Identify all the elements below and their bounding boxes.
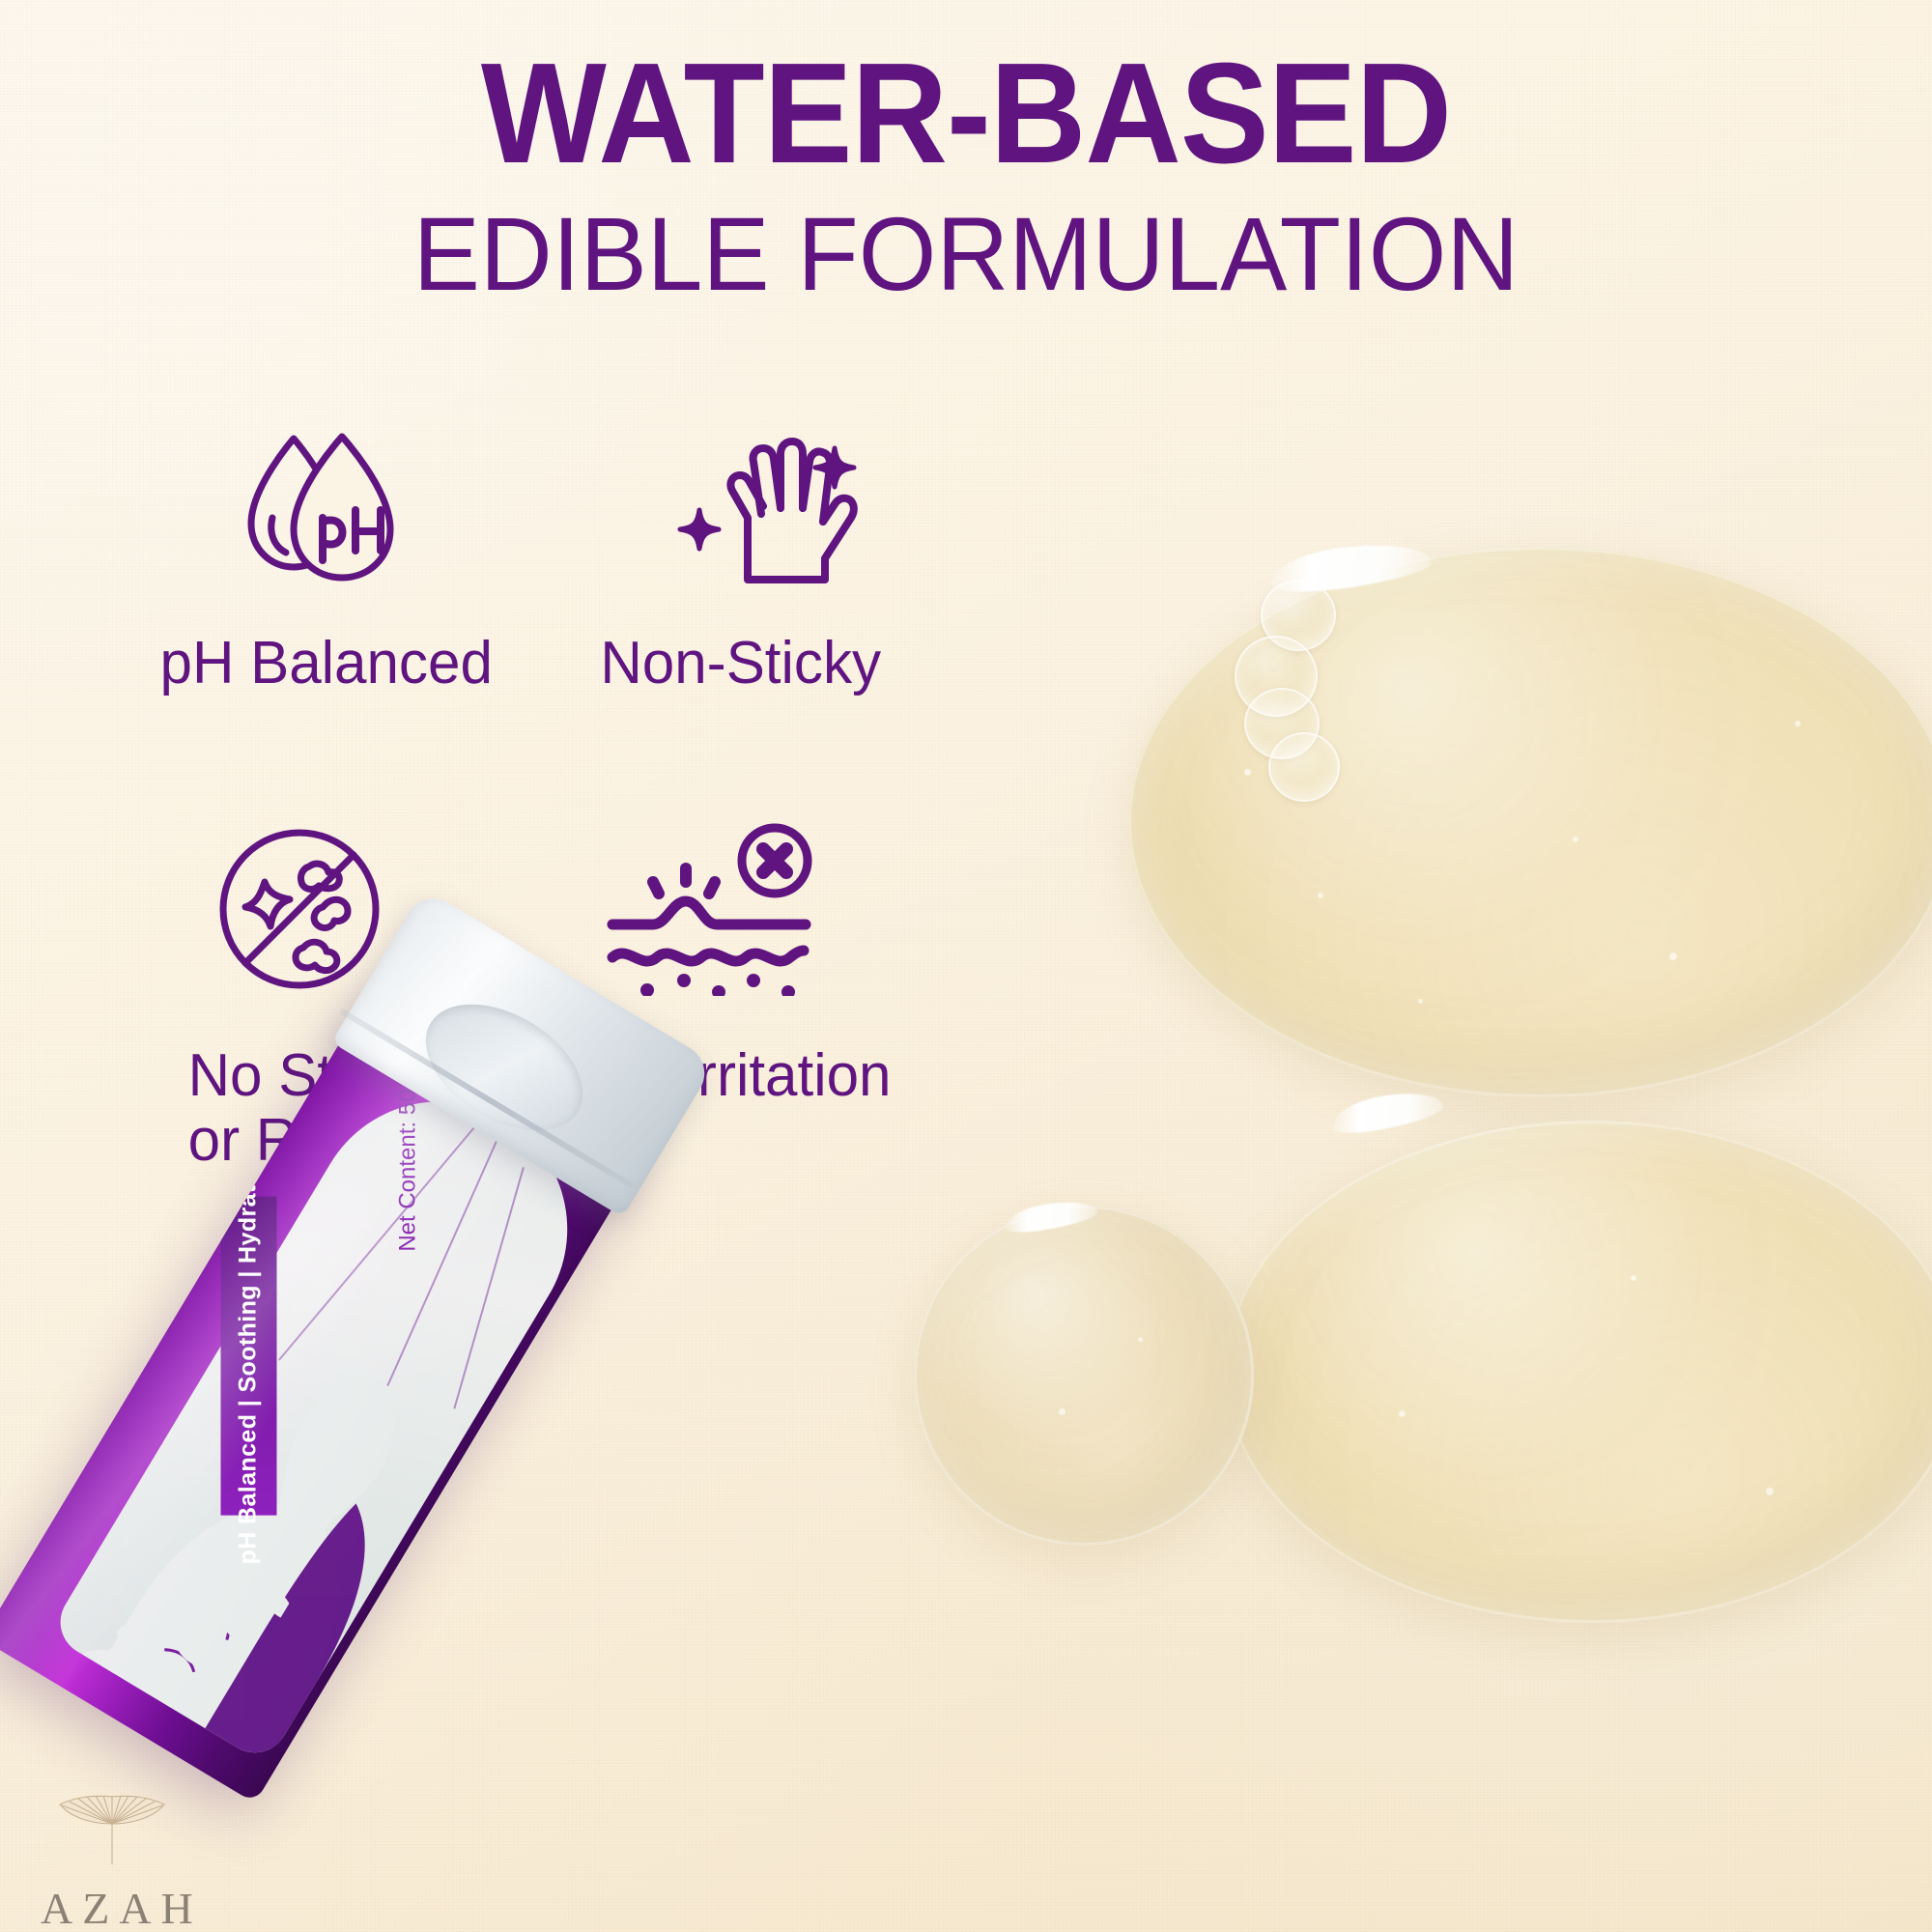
skin-no-irritation-icon — [580, 812, 1014, 996]
gel-speck — [1631, 1275, 1636, 1281]
transparent-bubble — [1268, 732, 1340, 802]
ph-droplet-icon — [145, 415, 580, 599]
ginkgo-leaf-icon — [35, 1789, 189, 1878]
headline-secondary: EDIBLE FORMULATION — [39, 199, 1893, 308]
gel-speck — [1573, 837, 1578, 842]
gel-speck — [1669, 952, 1677, 960]
gel-speck — [1138, 1337, 1143, 1342]
gel-speck — [1418, 999, 1423, 1004]
brand-logo: AZAH — [35, 1789, 189, 1932]
gel-droplet-large — [1128, 547, 1932, 1097]
brand-name: AZAH — [35, 1883, 189, 1932]
feature-label: pH Balanced — [145, 599, 567, 696]
sparkle-hand-icon — [580, 415, 1014, 599]
gel-speck — [1795, 721, 1801, 726]
gel-droplet-small — [914, 1206, 1254, 1546]
gel-speck — [1399, 1410, 1406, 1417]
gel-speck — [1766, 1488, 1774, 1495]
headline-primary: WATER-BASED — [68, 43, 1864, 185]
gel-speck — [1318, 893, 1323, 898]
gel-speck — [1244, 769, 1251, 776]
feature-label: Non-Sticky — [580, 599, 1002, 696]
headline-block: WATER-BASED EDIBLE FORMULATION — [0, 43, 1932, 308]
feature-ph-balanced: pH Balanced — [145, 415, 580, 696]
feature-non-sticky: Non-Sticky — [580, 415, 1014, 696]
gel-droplet-medium — [1225, 1121, 1932, 1623]
feature-row: pH Balanced Non-Sticky — [145, 415, 1014, 696]
gel-speck — [1059, 1408, 1065, 1415]
